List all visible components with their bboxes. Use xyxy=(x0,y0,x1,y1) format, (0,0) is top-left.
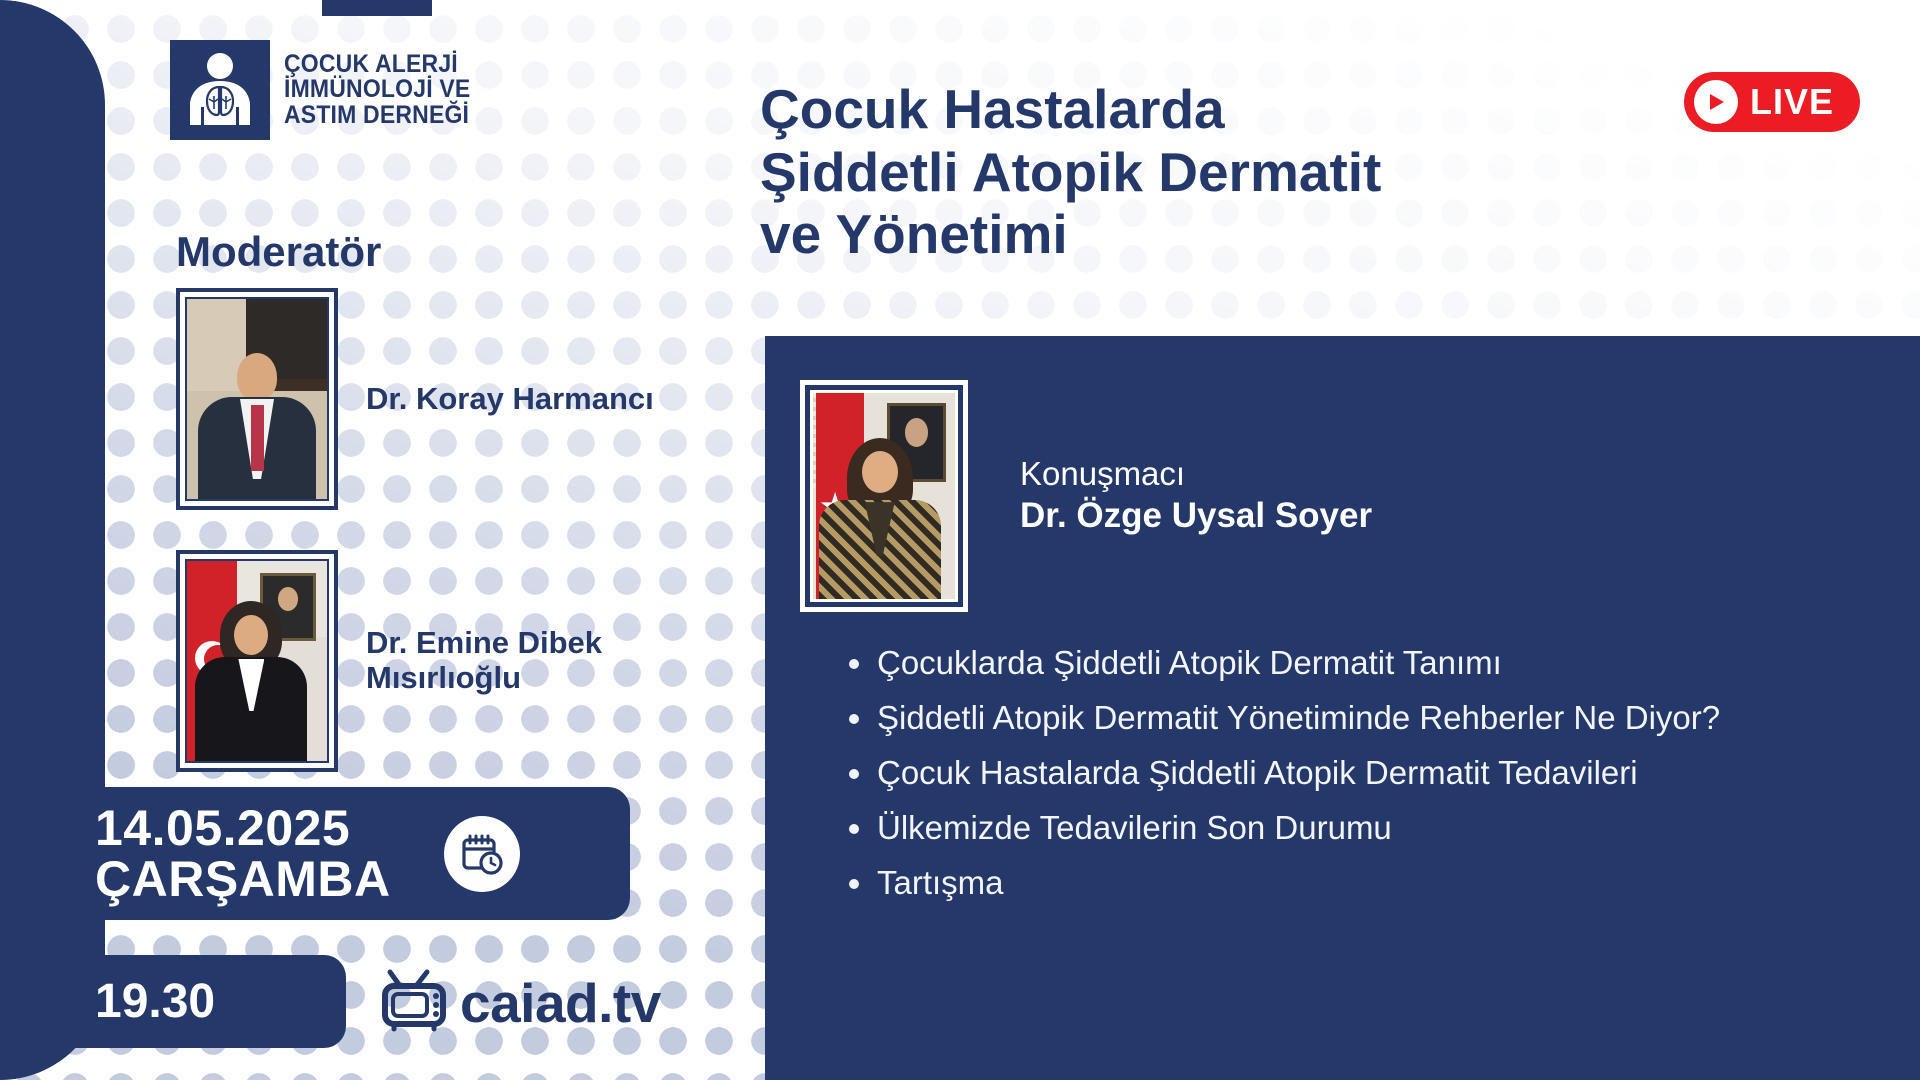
tv-icon xyxy=(380,968,452,1037)
speaker-labels: Konuşmacı Dr. Özge Uysal Soyer xyxy=(1020,454,1372,537)
time-text: 19.30 xyxy=(95,974,215,1029)
top-navy-accent-tab xyxy=(322,0,432,16)
logo-line-3: ASTIM DERNEĞİ xyxy=(284,103,470,129)
channel-row[interactable]: caiad.tv xyxy=(380,968,661,1037)
list-item: Ülkemizde Tedavilerin Son Durumu xyxy=(843,807,1873,850)
title-line-1: Çocuk Hastalarda xyxy=(760,78,1820,141)
moderator-item-2: Dr. Emine Dibek Mısırlıoğlu xyxy=(176,550,656,772)
channel-label: caiad.tv xyxy=(460,971,661,1035)
date-line-2: ÇARŞAMBA xyxy=(95,854,391,905)
moderator-item-1: Dr. Koray Harmancı xyxy=(176,288,654,510)
association-name: ÇOCUK ALERJİ İMMÜNOLOJİ VE ASTIM DERNEĞİ xyxy=(284,52,470,129)
speaker-block: Konuşmacı Dr. Özge Uysal Soyer xyxy=(800,380,1372,612)
play-icon xyxy=(1694,80,1738,124)
date-line-1: 14.05.2025 xyxy=(95,803,391,854)
calendar-clock-icon xyxy=(444,816,520,892)
moderator-heading: Moderatör xyxy=(176,228,381,276)
list-item: Çocuk Hastalarda Şiddetli Atopik Dermati… xyxy=(843,752,1873,795)
moderator-portrait-koray-harmanci xyxy=(176,288,338,510)
speaker-role: Konuşmacı xyxy=(1020,454,1372,494)
page-title: Çocuk Hastalarda Şiddetli Atopik Dermati… xyxy=(760,78,1820,266)
logo-line-1: ÇOCUK ALERJİ xyxy=(284,52,470,78)
person-lungs-icon xyxy=(170,40,270,140)
title-line-2: Şiddetli Atopik Dermatit xyxy=(760,141,1820,204)
list-item: Tartışma xyxy=(843,862,1873,905)
live-badge[interactable]: LIVE xyxy=(1684,72,1860,132)
moderator-name-2: Dr. Emine Dibek Mısırlıoğlu xyxy=(366,626,656,695)
list-item: Şiddetli Atopik Dermatit Yönetiminde Reh… xyxy=(843,697,1873,740)
moderator-name-1: Dr. Koray Harmancı xyxy=(366,382,654,417)
live-label: LIVE xyxy=(1750,81,1834,123)
time-badge: 19.30 xyxy=(0,955,346,1048)
date-text: 14.05.2025 ÇARŞAMBA xyxy=(95,803,391,905)
association-logo: ÇOCUK ALERJİ İMMÜNOLOJİ VE ASTIM DERNEĞİ xyxy=(170,40,487,140)
moderator-portrait-emine-dibek-misirlioglu xyxy=(176,550,338,772)
speaker-portrait-ozge-uysal-soyer xyxy=(800,380,968,612)
date-badge: 14.05.2025 ÇARŞAMBA xyxy=(0,787,630,920)
topic-list: Çocuklarda Şiddetli Atopik Dermatit Tanı… xyxy=(843,642,1873,916)
speaker-name: Dr. Özge Uysal Soyer xyxy=(1020,494,1372,538)
list-item: Çocuklarda Şiddetli Atopik Dermatit Tanı… xyxy=(843,642,1873,685)
logo-line-2: İMMÜNOLOJİ VE xyxy=(284,77,470,103)
content-panel: Konuşmacı Dr. Özge Uysal Soyer Çocuklard… xyxy=(765,336,1920,1080)
title-line-3: ve Yönetimi xyxy=(760,203,1820,266)
